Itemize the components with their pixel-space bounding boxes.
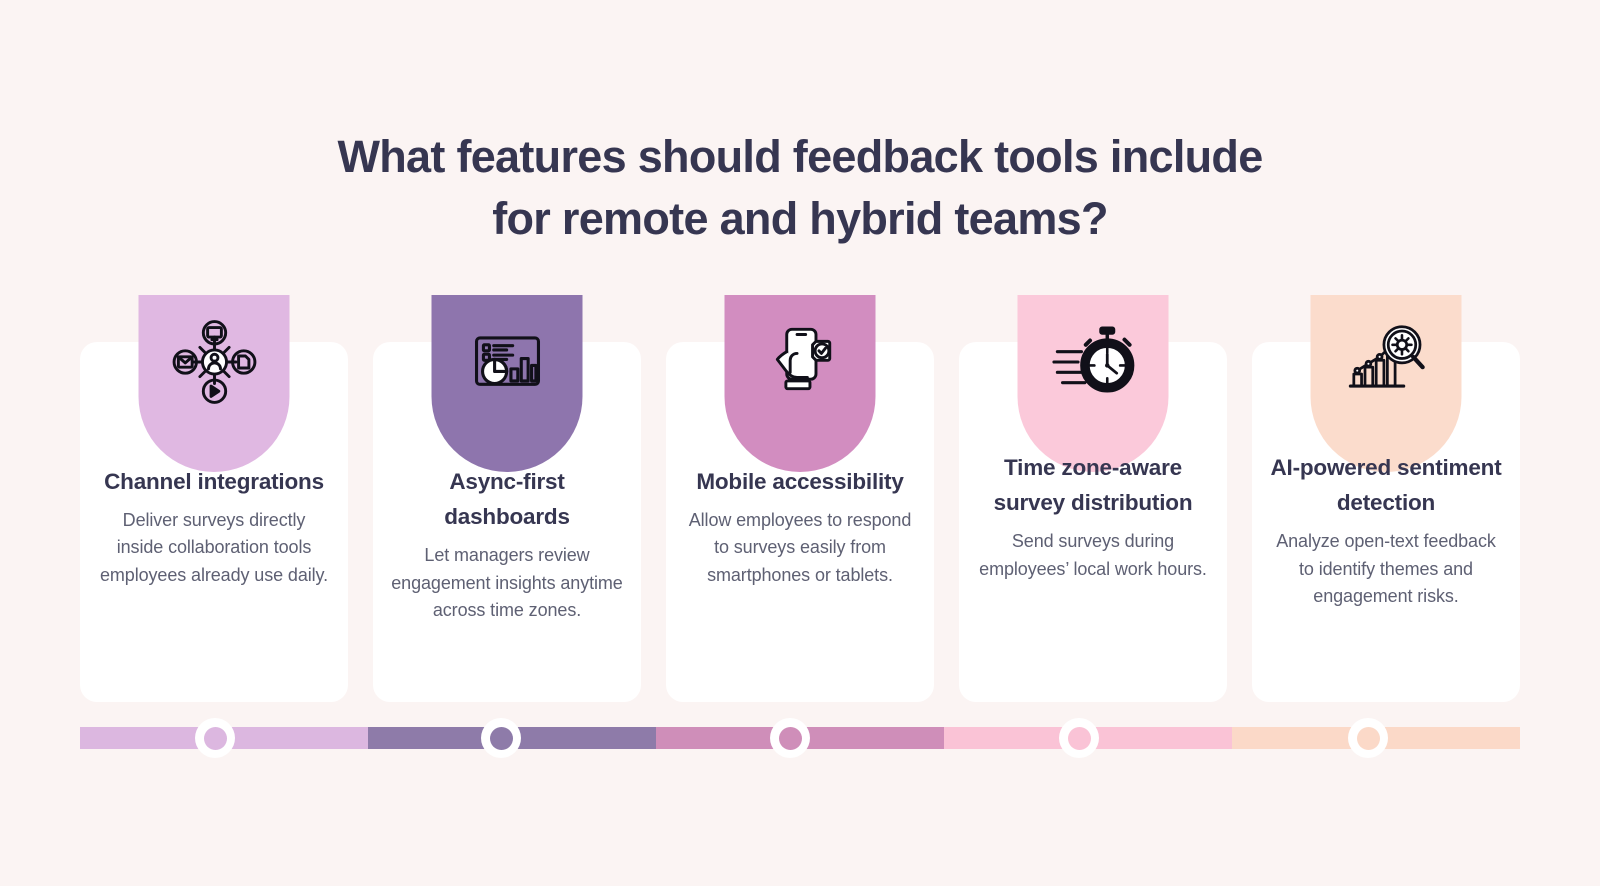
channel-network-hub-icon bbox=[171, 319, 257, 405]
card-description-2: Let managers review engagement insights … bbox=[391, 542, 623, 624]
rail-marker-step-5[interactable] bbox=[1348, 718, 1388, 758]
page-title-line-1: What features should feedback tools incl… bbox=[0, 126, 1600, 188]
icon-shield-5 bbox=[1311, 295, 1462, 472]
rail-marker-step-1[interactable] bbox=[195, 718, 235, 758]
bar-chart-magnifier-gear-icon bbox=[1343, 319, 1429, 405]
card-title-5: AI-powered sentiment detection bbox=[1270, 450, 1502, 520]
rail-segment bbox=[512, 727, 656, 749]
feature-card-mobile-accessibility[interactable]: Mobile accessibility Allow employees to … bbox=[666, 342, 934, 702]
card-title-1: Channel integrations bbox=[98, 464, 330, 499]
card-description-1: Deliver surveys directly inside collabor… bbox=[98, 507, 330, 589]
rail-segment bbox=[1376, 727, 1520, 749]
card-description-4: Send surveys during employees’ local wor… bbox=[977, 528, 1209, 583]
icon-shield-2 bbox=[432, 295, 583, 472]
icon-shield-3 bbox=[725, 295, 876, 472]
page-title: What features should feedback tools incl… bbox=[0, 126, 1600, 250]
analytics-dashboard-icon bbox=[464, 319, 550, 405]
rail-segment bbox=[224, 727, 368, 749]
card-description-3: Allow employees to respond to surveys ea… bbox=[684, 507, 916, 589]
stopwatch-speed-icon bbox=[1050, 319, 1136, 405]
page-title-line-2: for remote and hybrid teams? bbox=[0, 188, 1600, 250]
card-title-2: Async-first dashboards bbox=[391, 464, 623, 534]
feature-card-channel-integrations[interactable]: Channel integrations Deliver surveys dir… bbox=[80, 342, 348, 702]
mobile-hand-check-icon bbox=[757, 319, 843, 405]
feature-card-async-first-dashboards[interactable]: Async-first dashboards Let managers revi… bbox=[373, 342, 641, 702]
card-body-5: AI-powered sentiment detection Analyze o… bbox=[1252, 450, 1520, 610]
card-body-4: Time zone-aware survey distribution Send… bbox=[959, 450, 1227, 583]
card-title-3: Mobile accessibility bbox=[684, 464, 916, 499]
card-body-1: Channel integrations Deliver surveys dir… bbox=[80, 464, 348, 589]
feature-card-row: Channel integrations Deliver surveys dir… bbox=[80, 342, 1520, 702]
icon-shield-1 bbox=[139, 295, 290, 472]
rail-segment bbox=[1088, 727, 1232, 749]
rail-marker-step-3[interactable] bbox=[770, 718, 810, 758]
card-title-4: Time zone-aware survey distribution bbox=[977, 450, 1209, 520]
progress-rail[interactable] bbox=[80, 727, 1520, 749]
icon-shield-4 bbox=[1018, 295, 1169, 472]
card-body-3: Mobile accessibility Allow employees to … bbox=[666, 464, 934, 589]
rail-marker-step-4[interactable] bbox=[1059, 718, 1099, 758]
feature-card-ai-powered-sentiment-detection[interactable]: AI-powered sentiment detection Analyze o… bbox=[1252, 342, 1520, 702]
rail-segment bbox=[800, 727, 944, 749]
card-description-5: Analyze open-text feedback to identify t… bbox=[1270, 528, 1502, 610]
rail-marker-step-2[interactable] bbox=[481, 718, 521, 758]
feature-card-time-zone-aware-survey-distribution[interactable]: Time zone-aware survey distribution Send… bbox=[959, 342, 1227, 702]
card-body-2: Async-first dashboards Let managers revi… bbox=[373, 464, 641, 624]
